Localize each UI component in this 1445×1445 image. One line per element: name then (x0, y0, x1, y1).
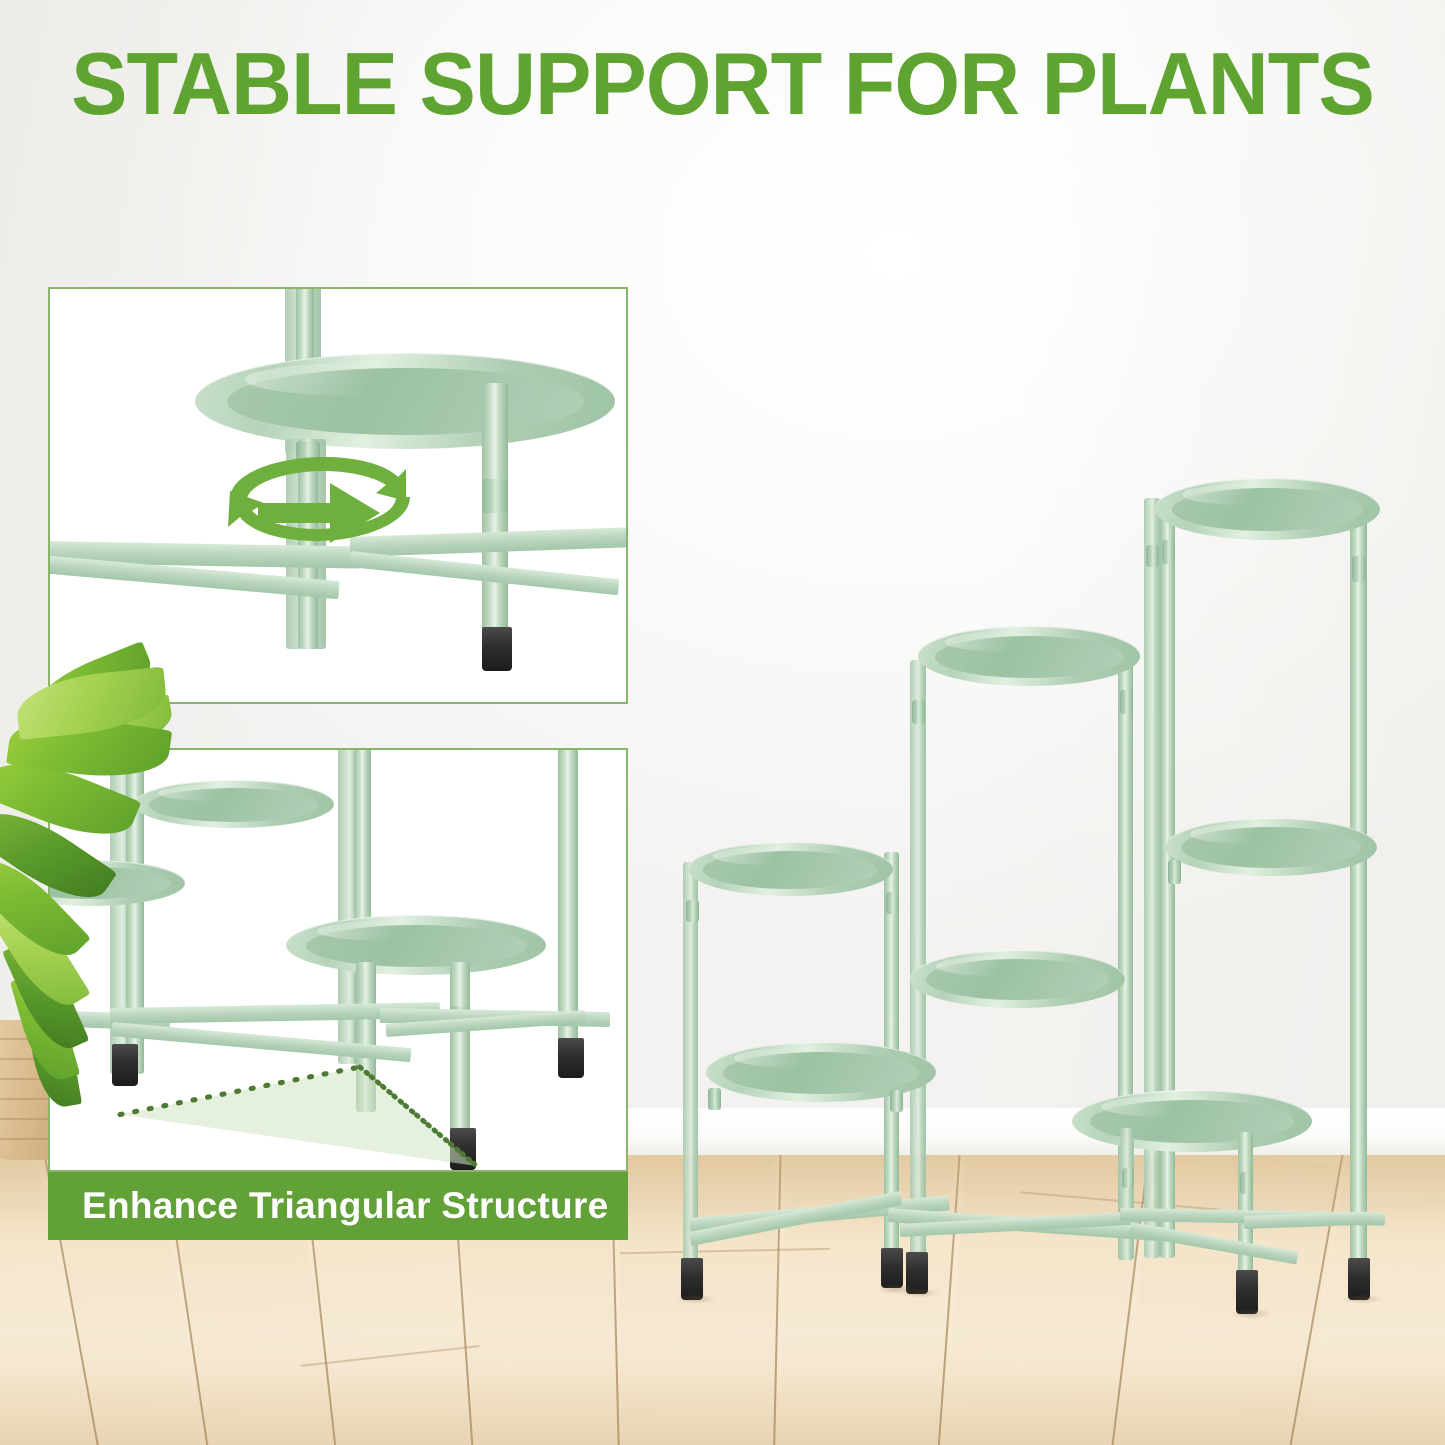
feature-banner: Enhance Triangular Structure (48, 1172, 628, 1240)
right-middle-tier-tray (1165, 818, 1377, 876)
middle-lower-tray (910, 950, 1125, 1008)
tray-highlight (1190, 824, 1307, 844)
inset-closeup-tray (195, 353, 615, 449)
tray-highlight (1182, 484, 1306, 505)
inset-rotating-tray (48, 287, 628, 704)
tray-highlight (245, 363, 476, 396)
post-sleeve (886, 892, 899, 914)
rotation-arrow-icon (200, 447, 440, 577)
top-tier-tray (1155, 478, 1380, 540)
feature-banner-label: Enhance Triangular Structure (82, 1185, 609, 1227)
foot-contact-shadow (1230, 1308, 1272, 1319)
bottom-right-post-back (1120, 1128, 1134, 1260)
tray-highlight (734, 1048, 861, 1068)
tray-highlight (1101, 1096, 1233, 1117)
foot-cap-left-back (881, 1248, 903, 1288)
foot-contact-shadow (676, 1294, 716, 1304)
inset-foot-cap (482, 627, 512, 671)
lower-left-tier-tray (688, 842, 893, 896)
post-sleeve (890, 1090, 903, 1112)
post-sleeve (1168, 860, 1181, 884)
tray-highlight (936, 956, 1054, 976)
tray-highlight (945, 632, 1067, 652)
product-marketing-image: STABLE SUPPORT FOR PLANTS Enhance Tri (0, 0, 1445, 1445)
right-tall-post (1350, 520, 1367, 1260)
post-sleeve (686, 900, 699, 922)
post-sleeve (1240, 1172, 1253, 1194)
post-sleeve (1162, 540, 1175, 564)
post-sleeve (912, 700, 925, 724)
foot-contact-shadow (900, 1288, 940, 1298)
post-sleeve (1122, 1168, 1134, 1188)
post-sleeve (1120, 690, 1133, 714)
inset-right-leg-sleeve (482, 479, 508, 513)
post-sleeve (1352, 556, 1366, 582)
upper-middle-tier-tray (918, 626, 1140, 686)
post-sleeve (1146, 545, 1159, 567)
foot-contact-shadow (1342, 1294, 1382, 1304)
post-sleeve (708, 1088, 721, 1110)
bottom-right-tier-tray (1072, 1090, 1312, 1152)
tray-highlight (713, 847, 826, 865)
